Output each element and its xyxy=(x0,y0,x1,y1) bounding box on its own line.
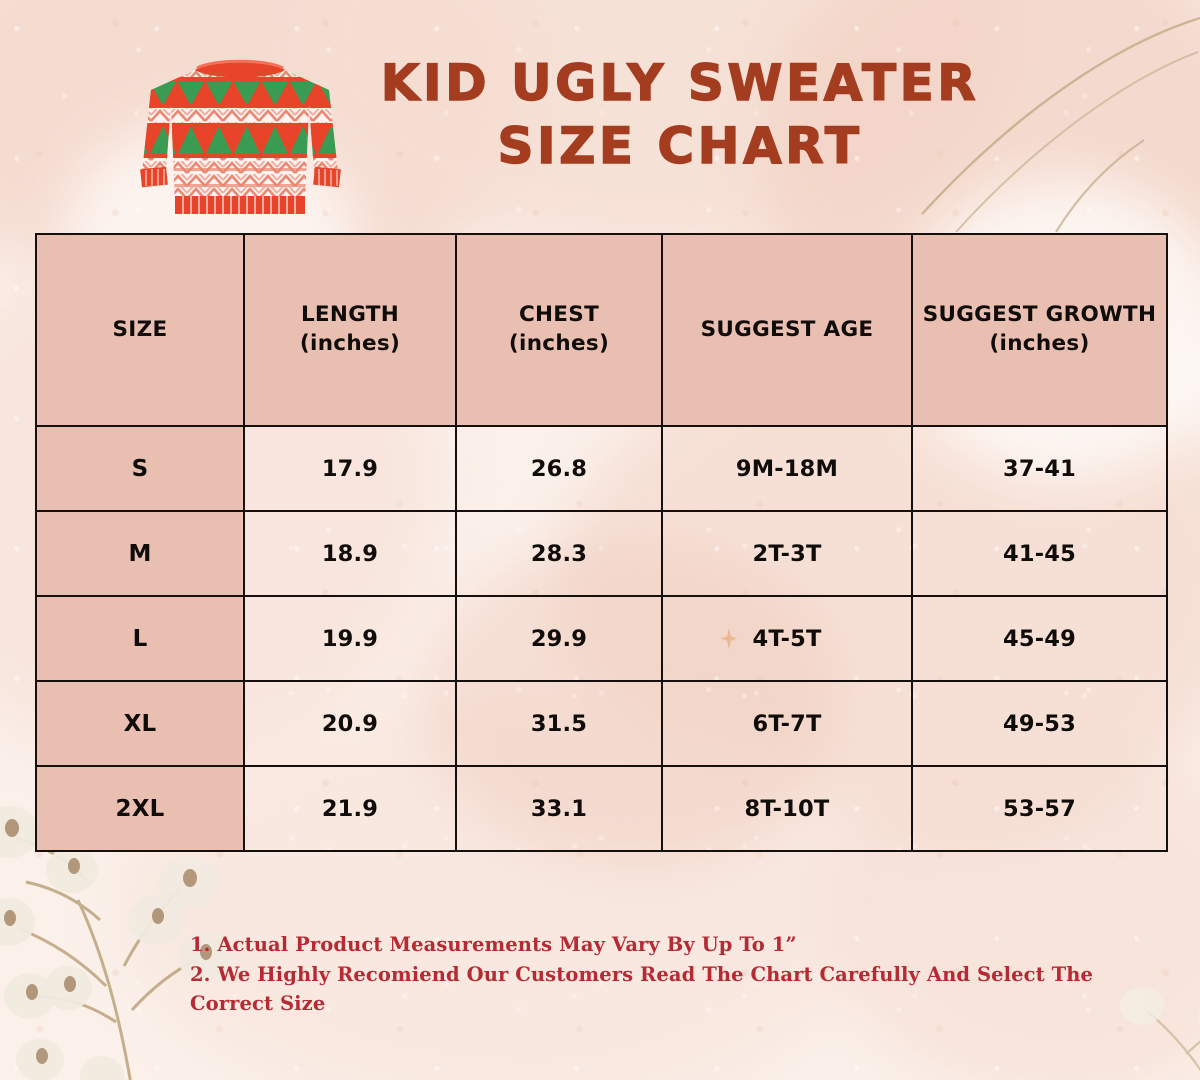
cell-chest: 29.9 xyxy=(456,596,662,681)
footer-note-2: 2. We Highly Recomiend Our Customers Rea… xyxy=(190,960,1170,1019)
cell-length: 20.9 xyxy=(244,681,456,766)
cell-size: 2XL xyxy=(36,766,244,851)
ugly-sweater-icon xyxy=(133,44,348,216)
table-row: M 18.9 28.3 2T-3T 41-45 xyxy=(36,511,1167,596)
title-line-2: SIZE CHART xyxy=(360,115,1000,178)
title-line-1: KID UGLY SWEATER xyxy=(360,52,1000,115)
cell-size: S xyxy=(36,426,244,511)
column-header-length: LENGTH (inches) xyxy=(244,234,456,426)
cell-length: 17.9 xyxy=(244,426,456,511)
column-header-suggest-growth-unit: (inches) xyxy=(913,330,1166,359)
table-row: L 19.9 29.9 4T-5T 45-49 xyxy=(36,596,1167,681)
footer-note-1: 1. Actual Product Measurements May Vary … xyxy=(190,930,1170,960)
cell-size: XL xyxy=(36,681,244,766)
cell-suggest-age: 8T-10T xyxy=(662,766,912,851)
cell-chest: 26.8 xyxy=(456,426,662,511)
cell-suggest-growth: 41-45 xyxy=(912,511,1167,596)
cell-suggest-age: 6T-7T xyxy=(662,681,912,766)
column-header-suggest-growth: SUGGEST GROWTH (inches) xyxy=(912,234,1167,426)
cell-chest: 31.5 xyxy=(456,681,662,766)
cell-size: L xyxy=(36,596,244,681)
column-header-chest-label: CHEST xyxy=(519,302,599,327)
page-title: KID UGLY SWEATER SIZE CHART xyxy=(360,52,1000,178)
size-chart-table-wrapper: SIZE LENGTH (inches) CHEST (inches) SUGG… xyxy=(35,233,1166,852)
cell-length: 19.9 xyxy=(244,596,456,681)
cell-length: 18.9 xyxy=(244,511,456,596)
cell-size: M xyxy=(36,511,244,596)
cell-suggest-growth: 45-49 xyxy=(912,596,1167,681)
column-header-length-unit: (inches) xyxy=(245,330,455,359)
column-header-chest-unit: (inches) xyxy=(457,330,661,359)
cell-suggest-growth: 53-57 xyxy=(912,766,1167,851)
cell-suggest-age: 9M-18M xyxy=(662,426,912,511)
column-header-size: SIZE xyxy=(36,234,244,426)
table-row: S 17.9 26.8 9M-18M 37-41 xyxy=(36,426,1167,511)
cell-suggest-age: 4T-5T xyxy=(662,596,912,681)
cell-chest: 28.3 xyxy=(456,511,662,596)
column-header-length-label: LENGTH xyxy=(301,302,399,327)
footer-notes: 1. Actual Product Measurements May Vary … xyxy=(190,930,1170,1019)
table-header: SIZE LENGTH (inches) CHEST (inches) SUGG… xyxy=(36,234,1167,426)
table-row: 2XL 21.9 33.1 8T-10T 53-57 xyxy=(36,766,1167,851)
table-header-row: SIZE LENGTH (inches) CHEST (inches) SUGG… xyxy=(36,234,1167,426)
cell-suggest-age: 2T-3T xyxy=(662,511,912,596)
column-header-suggest-age-label: SUGGEST AGE xyxy=(701,317,874,342)
cell-suggest-growth: 49-53 xyxy=(912,681,1167,766)
cell-chest: 33.1 xyxy=(456,766,662,851)
table-body: S 17.9 26.8 9M-18M 37-41 M 18.9 28.3 2T-… xyxy=(36,426,1167,851)
column-header-chest: CHEST (inches) xyxy=(456,234,662,426)
cell-length: 21.9 xyxy=(244,766,456,851)
column-header-size-label: SIZE xyxy=(113,317,168,342)
sparkle-icon xyxy=(721,628,737,650)
table-row: XL 20.9 31.5 6T-7T 49-53 xyxy=(36,681,1167,766)
size-chart-table: SIZE LENGTH (inches) CHEST (inches) SUGG… xyxy=(35,233,1168,852)
column-header-suggest-growth-label: SUGGEST GROWTH xyxy=(923,302,1157,327)
header: KID UGLY SWEATER SIZE CHART xyxy=(0,0,1200,232)
cell-suggest-growth: 37-41 xyxy=(912,426,1167,511)
column-header-suggest-age: SUGGEST AGE xyxy=(662,234,912,426)
